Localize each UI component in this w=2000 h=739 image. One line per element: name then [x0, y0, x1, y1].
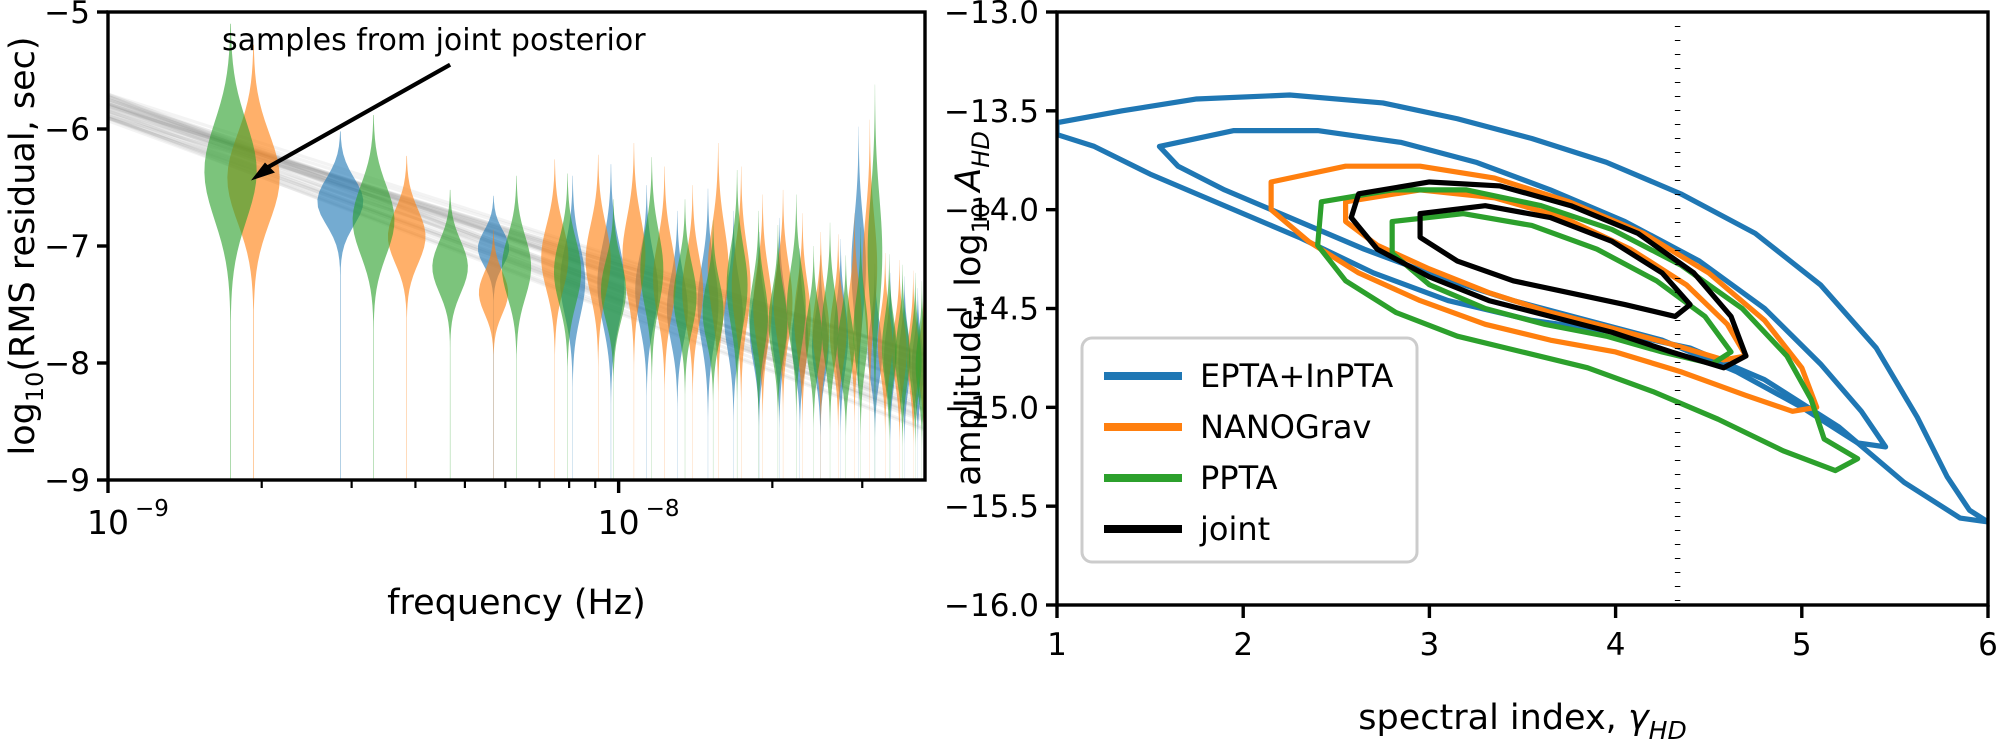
- joint-posterior-annotation: samples from joint posterior: [222, 23, 646, 58]
- figure-root: samples from joint posterior−5−6−7−8−910…: [0, 0, 2000, 739]
- y-tick-label: −13.0: [944, 0, 1039, 31]
- svg-text:−8: −8: [646, 496, 680, 522]
- right-ylabel: amplitude, log10 AHD: [949, 131, 995, 486]
- violin: [317, 131, 363, 480]
- svg-text:−9: −9: [135, 496, 169, 522]
- y-tick-label: −15.5: [944, 489, 1039, 525]
- y-tick-label: −9: [44, 463, 90, 499]
- y-tick-label: −16.0: [944, 588, 1039, 624]
- svg-text:10: 10: [598, 503, 640, 542]
- y-tick-label: −6: [44, 112, 90, 148]
- left-xlabel: frequency (Hz): [387, 583, 646, 623]
- violin: [353, 115, 395, 480]
- y-tick-label: −7: [44, 229, 90, 265]
- x-tick-label: 10−8: [598, 496, 680, 542]
- hd-posterior-contour-panel: −13.0−13.5−14.0−14.5−15.0−15.5−16.012345…: [940, 0, 2000, 739]
- violin: [895, 265, 910, 480]
- legend-label: EPTA+InPTA: [1200, 357, 1393, 395]
- violin-spectrum-panel: samples from joint posterior−5−6−7−8−910…: [0, 0, 940, 739]
- y-tick-label: −13.5: [944, 94, 1039, 130]
- right-xlabel: spectral index, γHD: [1358, 698, 1686, 739]
- x-tick-label: 4: [1606, 627, 1626, 663]
- annotation-arrow-shaft: [264, 65, 450, 170]
- x-tick-label: 3: [1420, 627, 1440, 663]
- svg-text:amplitude, log10 AHD: amplitude, log10 AHD: [949, 131, 995, 486]
- x-tick-label: 1: [1047, 627, 1067, 663]
- y-tick-label: −5: [44, 0, 90, 31]
- svg-text:frequency (Hz): frequency (Hz): [387, 583, 646, 623]
- violin: [822, 223, 839, 480]
- svg-text:log10(RMS residual, sec): log10(RMS residual, sec): [3, 36, 49, 455]
- x-tick-label: 10−9: [87, 496, 169, 542]
- y-tick-label: −8: [44, 346, 90, 382]
- dataset-legend[interactable]: EPTA+InPTANANOGravPPTAjoint: [1082, 338, 1417, 562]
- legend-label: NANOGrav: [1200, 408, 1371, 446]
- left-panel-svg: samples from joint posterior−5−6−7−8−910…: [0, 0, 940, 739]
- left-ylabel: log10(RMS residual, sec): [3, 36, 49, 455]
- x-tick-label: 2: [1233, 627, 1253, 663]
- legend-label: PPTA: [1200, 459, 1278, 497]
- svg-text:10: 10: [87, 503, 129, 542]
- x-tick-label: 5: [1792, 627, 1812, 663]
- legend-label: joint: [1199, 510, 1270, 548]
- svg-text:spectral index, γHD: spectral index, γHD: [1358, 698, 1686, 739]
- right-panel-svg: −13.0−13.5−14.0−14.5−15.0−15.5−16.012345…: [940, 0, 2000, 739]
- x-tick-label: 6: [1978, 627, 1998, 663]
